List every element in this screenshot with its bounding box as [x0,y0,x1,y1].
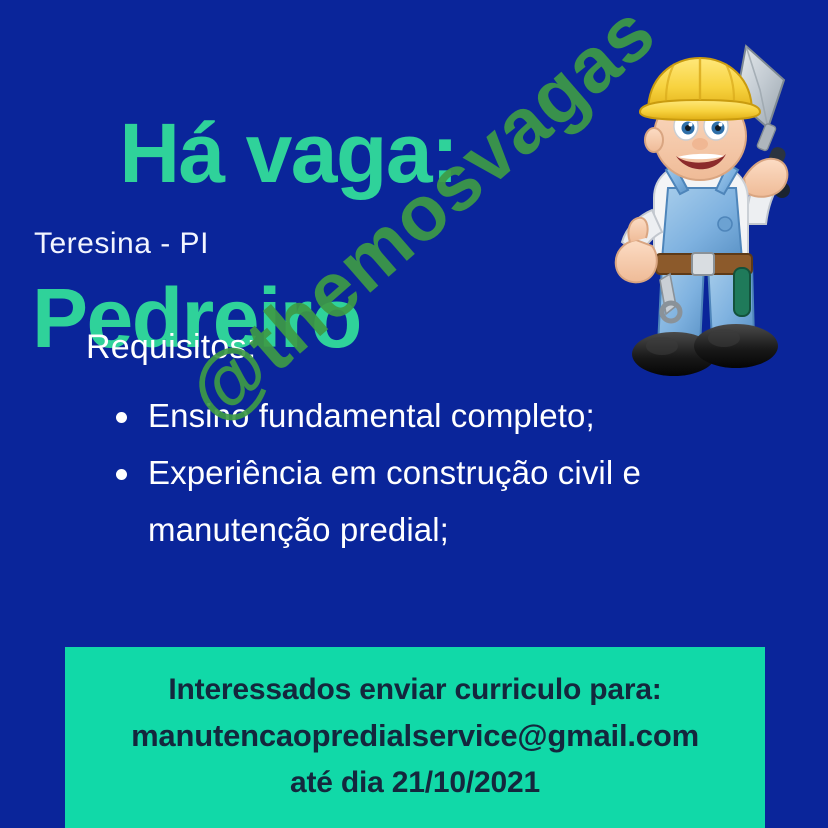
construction-worker-mascot-icon [596,28,828,380]
list-item: Ensino fundamental completo; [112,388,772,445]
job-vacancy-poster: Há vaga: Pedreiro Teresina - PI Requisit… [0,0,828,828]
requirements-heading: Requisitos: [86,328,256,367]
contact-email[interactable]: manutencaopredialservice@gmail.com [65,712,765,761]
application-deadline: até dia 21/10/2021 [65,760,765,805]
contact-instruction: Interessados enviar curriculo para: [65,668,765,712]
headline-line-1: Há vaga: [119,106,457,200]
requirements-list: Ensino fundamental completo; Experiência… [112,388,772,558]
contact-box: Interessados enviar curriculo para: manu… [65,647,765,828]
list-item: Experiência em construção civil e manute… [112,445,772,559]
location-label: Teresina - PI [34,227,209,261]
